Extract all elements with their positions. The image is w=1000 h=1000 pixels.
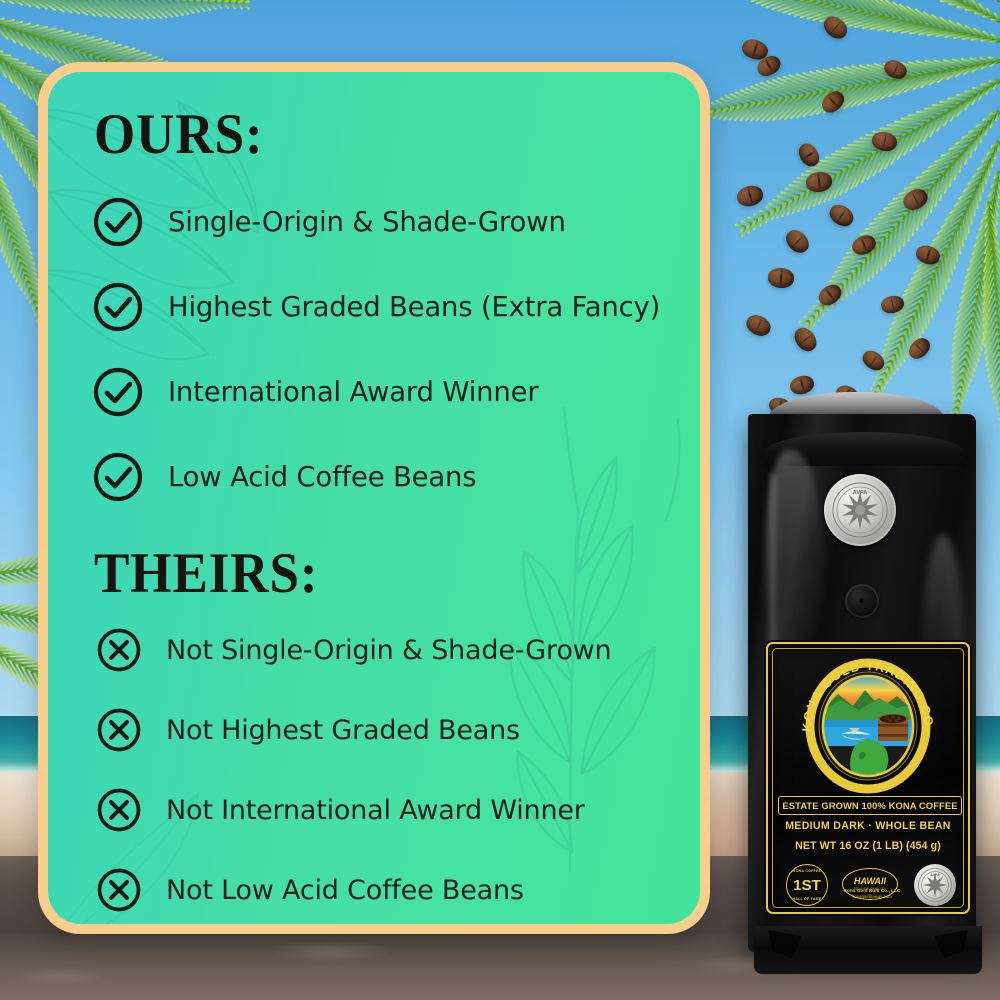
check-circle-icon (92, 281, 144, 333)
ours-heading: OURS: (94, 106, 630, 163)
silver-seal-value: AVPA (930, 873, 940, 877)
degassing-valve-icon (845, 584, 879, 618)
card-content: OURS: Single-Origin & Shade-Grown Highes… (48, 72, 700, 924)
comparison-card-panel: OURS: Single-Origin & Shade-Grown Highes… (48, 72, 700, 924)
check-circle-icon (92, 196, 144, 248)
theirs-heading: THEIRS: (94, 545, 630, 602)
first-place-arc-top: KONA COFFEE (787, 869, 827, 873)
x-circle-icon (96, 707, 142, 753)
label-badges: KONA COFFEE 1ST HALL OF FAME HAWAII SEAL… (780, 862, 960, 908)
list-item-label: Highest Graded Beans (Extra Fancy) (168, 291, 660, 323)
top-seal-text: AVPA (853, 490, 867, 496)
roast-type-text: MEDIUM DARK · WHOLE BEAN (768, 820, 968, 832)
bag-bottom-gusset (754, 926, 982, 974)
list-item: International Award Winner (82, 349, 670, 434)
brand-crest: KONA GOLD TRADING CO. (793, 650, 943, 800)
ours-list: Single-Origin & Shade-Grown Highest Grad… (82, 179, 670, 519)
list-item: Single-Origin & Shade-Grown (82, 179, 670, 264)
x-circle-icon (96, 867, 142, 913)
list-item: Highest Graded Beans (Extra Fancy) (82, 264, 670, 349)
bag-body: AVPA (748, 414, 976, 952)
theirs-list: Not Single-Origin & Shade-Grown Not High… (82, 610, 670, 924)
list-item-label: Low Acid Coffee Beans (168, 461, 476, 493)
hawaii-badge-value: HAWAII (854, 877, 886, 886)
first-place-value: 1ST (793, 878, 821, 893)
check-circle-icon (92, 366, 144, 418)
first-place-arc-bottom: HALL OF FAME (787, 897, 827, 901)
list-item-label: Not Single-Origin & Shade-Grown (166, 635, 611, 666)
list-item-label: Not Highest Graded Beans (166, 715, 520, 746)
list-item-label: Not Low Acid Coffee Beans (166, 875, 524, 906)
x-circle-icon (96, 787, 142, 833)
net-weight-text: NET WT 16 OZ (1 LB) (454 g) (768, 840, 968, 852)
promo-graphic: AVPA (0, 0, 1000, 1000)
coffee-bag-product: AVPA (742, 392, 984, 952)
list-item-label: Single-Origin & Shade-Grown (168, 206, 566, 238)
list-item: Not International Award Winner (82, 770, 670, 850)
list-item: Not Low Acid Coffee Beans (82, 850, 670, 924)
estate-grown-banner: ESTATE GROWN 100% KONA COFFEE (778, 796, 962, 815)
silver-seal-badge: AVPA (914, 864, 956, 906)
avpa-seal-icon: AVPA (824, 474, 896, 546)
list-item: Not Single-Origin & Shade-Grown (82, 610, 670, 690)
company-website: konagoldhawaii.com (834, 894, 910, 899)
list-item-label: Not International Award Winner (166, 795, 585, 826)
comparison-card: OURS: Single-Origin & Shade-Grown Highes… (38, 62, 710, 934)
list-item: Low Acid Coffee Beans (82, 434, 670, 519)
check-circle-icon (92, 451, 144, 503)
x-circle-icon (96, 627, 142, 673)
company-name: Kona Gold Rum Co., LLC (834, 888, 910, 893)
list-item-label: International Award Winner (168, 376, 538, 408)
first-place-badge: KONA COFFEE 1ST HALL OF FAME (786, 864, 828, 906)
list-item: Not Highest Graded Beans (82, 690, 670, 770)
estate-grown-text: ESTATE GROWN 100% KONA COFFEE (782, 800, 957, 811)
company-info: Kona Gold Rum Co., LLC konagoldhawaii.co… (834, 888, 910, 899)
product-label: KONA GOLD TRADING CO. ESTATE GROWN 100% … (766, 642, 970, 914)
